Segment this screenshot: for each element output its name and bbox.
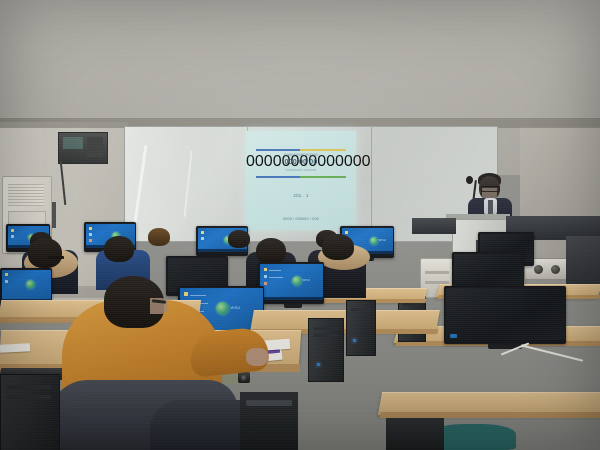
desktop-icon bbox=[11, 229, 14, 232]
desktop-icon bbox=[264, 282, 267, 285]
slide-footer: 0000 / 000000 / 000 bbox=[246, 217, 356, 221]
student-head bbox=[28, 238, 62, 268]
classroom-photo: 00000000000000 00000000000000 000 00 00 … bbox=[0, 0, 600, 450]
camera-lens bbox=[241, 375, 247, 381]
desktop-icon bbox=[11, 235, 14, 238]
student-head bbox=[228, 230, 250, 248]
wall-box-panel bbox=[63, 137, 83, 149]
projected-slide: 00000000000000 00000000000000 000 00 00 … bbox=[246, 131, 356, 230]
desktop-caption: WSU bbox=[303, 278, 311, 282]
student-head bbox=[104, 236, 134, 262]
desktop-caption: WSU bbox=[231, 305, 241, 310]
speaker-cabinet bbox=[566, 236, 600, 290]
pc-drive-bay bbox=[351, 308, 371, 311]
taskbar bbox=[260, 297, 323, 300]
student-head bbox=[148, 228, 170, 246]
foreground-student-hand bbox=[246, 348, 268, 366]
desktop-logo-icon bbox=[26, 280, 35, 289]
slide-subtitle: 000000000 0000000 bbox=[246, 169, 356, 173]
pc-power-led bbox=[317, 363, 320, 366]
desktop-icon bbox=[89, 227, 92, 230]
amplifier-knob bbox=[551, 265, 560, 274]
slide-rule-blue-2 bbox=[256, 176, 300, 178]
monitor bbox=[444, 286, 566, 344]
whiteboard-divider bbox=[371, 127, 372, 241]
pc-drive-bay bbox=[7, 385, 51, 389]
desk-surface bbox=[250, 310, 440, 331]
desktop-icon bbox=[89, 233, 92, 236]
slide-title: 000 00 00 bbox=[246, 159, 356, 168]
ac-louver bbox=[8, 184, 44, 206]
desktop-icon bbox=[201, 237, 204, 240]
desktop-logo-icon bbox=[292, 276, 302, 286]
pc-tower bbox=[346, 300, 376, 356]
pc-tower bbox=[386, 418, 444, 450]
monitor-screen bbox=[2, 270, 51, 303]
desktop-icon bbox=[184, 292, 188, 296]
desktop-logo-icon bbox=[370, 237, 378, 245]
monitor-screen bbox=[446, 288, 565, 341]
desktop-icon bbox=[5, 280, 8, 283]
pc-drive-bay bbox=[314, 327, 338, 330]
desktop-logo-icon bbox=[216, 302, 229, 315]
desktop-icon-label bbox=[269, 277, 283, 278]
monitor-screen: WSU bbox=[260, 264, 323, 301]
pc-tower bbox=[308, 318, 344, 382]
microphone-head bbox=[466, 176, 473, 184]
monitor: WSU bbox=[258, 262, 324, 304]
presenter-collar bbox=[488, 200, 493, 214]
monitor-brand-badge bbox=[450, 334, 457, 338]
paper-sheet bbox=[0, 343, 30, 353]
pc-power-led bbox=[353, 339, 356, 342]
monitor-cable bbox=[521, 344, 583, 361]
slide-rule-yellow bbox=[300, 149, 346, 151]
amplifier-knob bbox=[534, 265, 543, 274]
desktop-icon bbox=[264, 275, 267, 278]
desktop-icon bbox=[264, 268, 267, 271]
pc-drive-bay bbox=[314, 334, 338, 337]
student-glasses bbox=[48, 256, 64, 259]
student-head bbox=[322, 234, 354, 260]
presenter-glasses bbox=[481, 186, 500, 192]
student-head bbox=[256, 238, 286, 264]
pc-tower bbox=[0, 374, 60, 450]
taskbar bbox=[198, 249, 247, 252]
desktop-icon bbox=[201, 231, 204, 234]
desktop-icon-label bbox=[190, 295, 206, 296]
slide-header-text: 00000000000000 bbox=[246, 152, 356, 157]
printer-slot bbox=[425, 271, 449, 274]
whiteboard-glare bbox=[125, 127, 245, 241]
desktop-icon bbox=[5, 273, 8, 276]
rear-counter bbox=[412, 218, 456, 234]
wall-mounted-speaker-box bbox=[58, 132, 108, 164]
pc-drive-bay bbox=[7, 395, 51, 399]
desktop-icon bbox=[89, 239, 92, 242]
slide-rule-blue bbox=[256, 149, 300, 151]
slide-rule-green bbox=[300, 176, 346, 178]
pc-drive-bay bbox=[403, 303, 421, 306]
desktop-icon-label bbox=[269, 270, 281, 271]
monitor-stand bbox=[284, 304, 302, 308]
desktop-caption: WSU bbox=[379, 238, 387, 242]
pc-drive-tray bbox=[246, 400, 292, 406]
desktop-icon bbox=[345, 231, 348, 234]
slide-date: 201 . 1 bbox=[246, 193, 356, 199]
wall-box-grille bbox=[87, 137, 103, 157]
